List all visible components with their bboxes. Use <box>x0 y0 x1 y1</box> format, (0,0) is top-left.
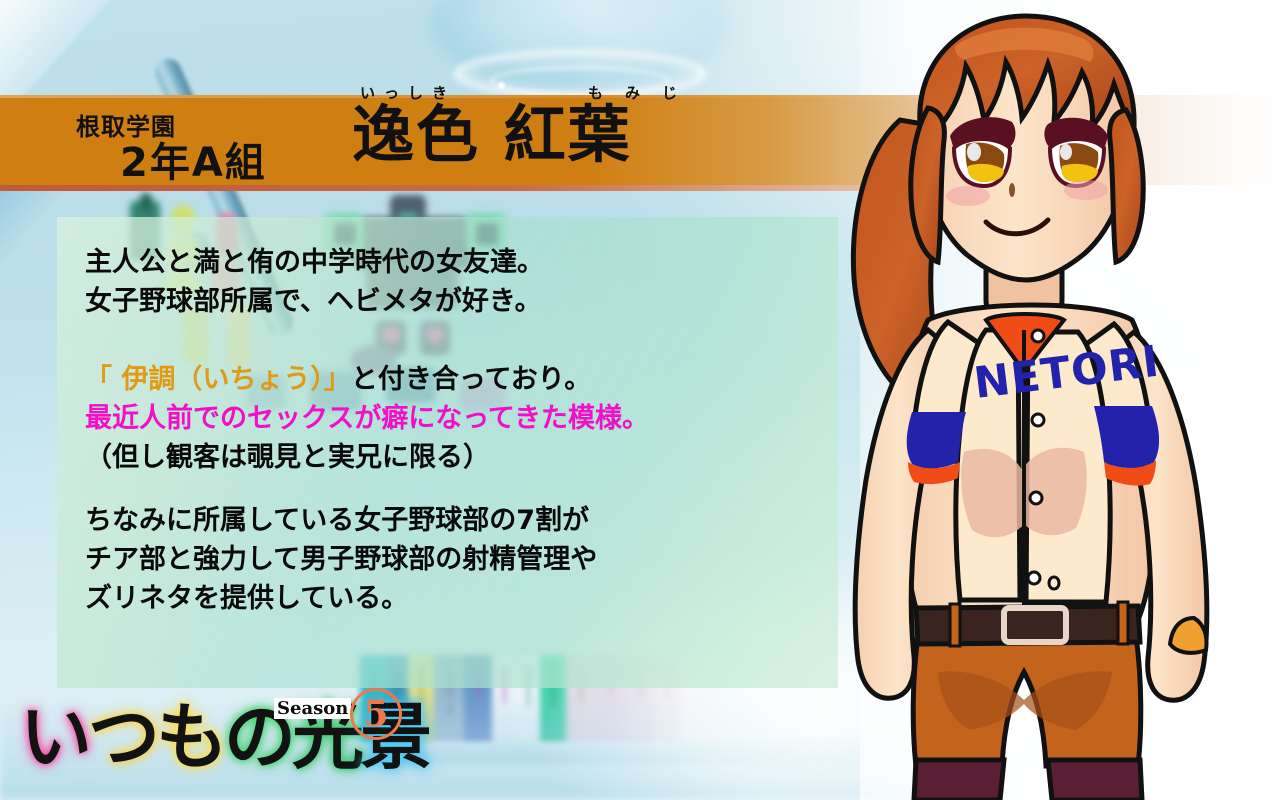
belt-loop-right <box>1118 602 1128 644</box>
hair-sidelock-right <box>1110 110 1144 262</box>
eye-left-highlight <box>967 143 981 161</box>
jersey-button-4 <box>1028 572 1040 584</box>
character-illustration: NETORI <box>808 0 1280 800</box>
description-line-2: 女子野球部所属で、ヘビメタが好き。 <box>85 282 825 321</box>
blush-right <box>1064 180 1108 200</box>
description-line-5: （但し観客は覗見と実兄に限る） <box>85 438 825 477</box>
description-line-6: ちなみに所属している女子野球部の7割が <box>85 501 825 540</box>
sleeve-band-blue-right <box>1094 406 1159 468</box>
name-banner-text-group: 根取学園 2年A組 いっしき もみじ 逸色 紅葉 <box>0 80 880 192</box>
description-line-8: ズリネタを提供している。 <box>85 579 825 618</box>
jersey-button-2 <box>1032 414 1044 426</box>
description-line-4: 最近人前でのセックスが癖になってきた模様。 <box>85 399 825 438</box>
description-line-1: 主人公と満と侑の中学時代の女友達。 <box>85 243 825 282</box>
belt-loop-left <box>950 604 960 646</box>
nose <box>1009 183 1015 197</box>
description-line-3-black: と付き合っており。 <box>351 364 591 395</box>
logo-char-2: つ <box>88 694 156 779</box>
logo-char-1: い <box>20 694 88 779</box>
description-panel: 主人公と満と侑の中学時代の女友達。 女子野球部所属で、ヘビメタが好き。 「 伊調… <box>57 217 838 688</box>
logo-char-3: も <box>156 694 224 779</box>
blush-left <box>946 186 990 206</box>
jersey-button-3 <box>1030 492 1042 504</box>
shorts-shading <box>938 671 1112 730</box>
season-number: 5 <box>350 688 402 740</box>
sleeve-band-blue-left <box>907 412 966 468</box>
character-name: 逸色 紅葉 <box>352 104 632 166</box>
description-line-3-gold: 「 伊調（いちょう）」 <box>85 364 351 395</box>
eye-right-highlight <box>1060 144 1072 160</box>
description-line-7: チア部と強力して男子野球部の射精管理や <box>85 540 825 579</box>
description-text: 主人公と満と侑の中学時代の女友達。 女子野球部所属で、ヘビメタが好き。 「 伊調… <box>85 243 825 618</box>
jersey-button-1 <box>1032 330 1044 342</box>
leggings-left <box>914 760 1004 800</box>
season-label: Season <box>274 698 351 719</box>
leggings-right <box>1048 760 1142 800</box>
class-name: 2年A組 <box>120 130 267 188</box>
character-profile-card: 根取学園 2年A組 いっしき もみじ 逸色 紅葉 主人公と満と侑の中学時代の女友… <box>0 0 1280 800</box>
description-line-3: 「 伊調（いちょう）」と付き合っており。 <box>85 360 825 399</box>
series-logo: いつもの光景 Season 5 <box>20 678 400 796</box>
